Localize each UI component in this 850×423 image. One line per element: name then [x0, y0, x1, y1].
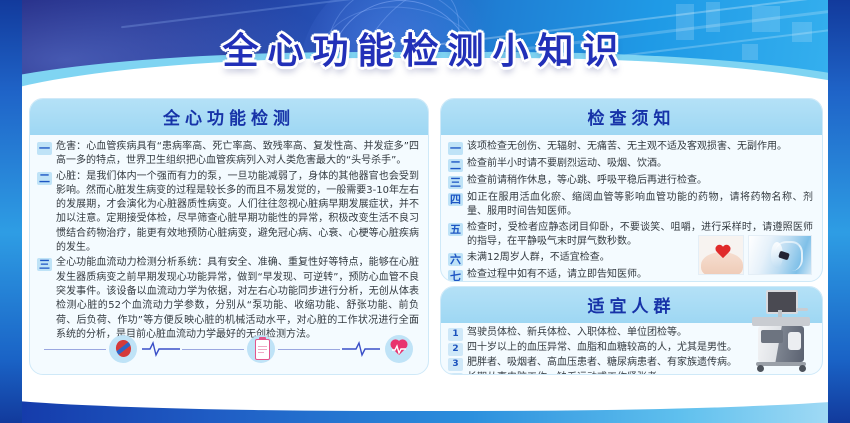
divider-line [44, 349, 106, 350]
anatomical-heart-icon [109, 335, 137, 363]
list-item: 二 心脏：是我们体内一个强而有力的泵，一旦功能减弱了，身体的其他器官也会受到影响… [37, 170, 419, 256]
list-number-marker: 2 [448, 343, 463, 356]
divider-line [182, 349, 244, 350]
list-item: 三 全心功能血流动力检测分析系统：具有安全、准确、重复性好等特点，能够在心脏发生… [37, 256, 419, 342]
hand-holding-heart-photo [698, 235, 744, 275]
clipboard-report-icon [247, 335, 275, 363]
list-item-text: 检查前请稍作休息，等心跳、呼吸平稳后再进行检查。 [467, 174, 813, 188]
panel-right-top-heading: 检查须知 [441, 99, 822, 135]
list-number-marker: 三 [37, 258, 52, 271]
ultrasound-cart-device-photo [740, 288, 824, 374]
decorative-icon-strip [44, 332, 416, 366]
page-title: 全心功能检测小知识 [0, 22, 850, 74]
panel-examination-notice: 检查须知 一 该项检查无创伤、无辐射、无痛苦、无主观不适及客观损害、无副作用。 … [440, 98, 823, 282]
footer-swoosh [0, 395, 850, 411]
panel-left-list: 一 危害：心血管疾病具有“患病率高、死亡率高、致残率高、复发性高、并发症多”四高… [30, 135, 428, 342]
list-item-text: 危害：心血管疾病具有“患病率高、死亡率高、致残率高、复发性高、并发症多”四高一多… [56, 140, 419, 169]
list-number-marker: 一 [37, 142, 52, 155]
list-number-marker: 六 [448, 253, 463, 266]
list-number-marker: 二 [37, 172, 52, 185]
left-frame-bar [0, 0, 22, 423]
right-frame-bar [828, 0, 850, 423]
footer-bar [0, 395, 850, 423]
ecg-wave-icon [342, 341, 380, 357]
divider-line [278, 349, 340, 350]
list-number-marker: 四 [448, 193, 463, 206]
list-item-text: 如正在服用活血化瘀、缩阔血管等影响血管功能的药物，请将药物名称、剂量、服用时间告… [467, 191, 813, 219]
list-item-text: 检查前半小时请不要剧烈运动、吸烟、饮酒。 [467, 157, 813, 171]
poster-root: 全心功能检测小知识 全心功能检测 一 危害：心血管疾病具有“患病率高、死亡率高、… [0, 0, 850, 423]
list-item: 三 检查前请稍作休息，等心跳、呼吸平稳后再进行检查。 [448, 174, 813, 189]
list-number-marker: 五 [448, 223, 463, 236]
list-item: 一 该项检查无创伤、无辐射、无痛苦、无主观不适及客观损害、无副作用。 [448, 140, 813, 155]
panel-left-heading: 全心功能检测 [30, 99, 428, 135]
list-number-marker: 一 [448, 142, 463, 155]
list-number-marker: 1 [448, 328, 463, 341]
list-number-marker: 二 [448, 159, 463, 172]
notice-photo-group [698, 235, 812, 275]
list-number-marker: 3 [448, 358, 463, 371]
list-item: 二 检查前半小时请不要剧烈运动、吸烟、饮酒。 [448, 157, 813, 172]
ecg-wave-icon [142, 341, 180, 357]
list-number-marker: 三 [448, 176, 463, 189]
list-item-text: 全心功能血流动力检测分析系统：具有安全、准确、重复性好等特点，能够在心脏发生器质… [56, 256, 419, 342]
cardiovascular-torso-photo [748, 235, 812, 275]
list-number-marker: 4 [448, 373, 463, 375]
list-item: 一 危害：心血管疾病具有“患病率高、死亡率高、致残率高、复发性高、并发症多”四高… [37, 140, 419, 169]
heart-pulse-icon [385, 335, 413, 363]
list-item: 四 如正在服用活血化瘀、缩阔血管等影响血管功能的药物，请将药物名称、剂量、服用时… [448, 191, 813, 219]
list-number-marker: 七 [448, 270, 463, 282]
list-item-text: 该项检查无创伤、无辐射、无痛苦、无主观不适及客观损害、无副作用。 [467, 140, 813, 154]
panel-quanxin-detection: 全心功能检测 一 危害：心血管疾病具有“患病率高、死亡率高、致残率高、复发性高、… [29, 98, 429, 375]
list-item-text: 心脏：是我们体内一个强而有力的泵，一旦功能减弱了，身体的其他器官也会受到影响。然… [56, 170, 419, 256]
content-area: 全心功能检测 一 危害：心血管疾病具有“患病率高、死亡率高、致残率高、复发性高、… [22, 92, 828, 380]
